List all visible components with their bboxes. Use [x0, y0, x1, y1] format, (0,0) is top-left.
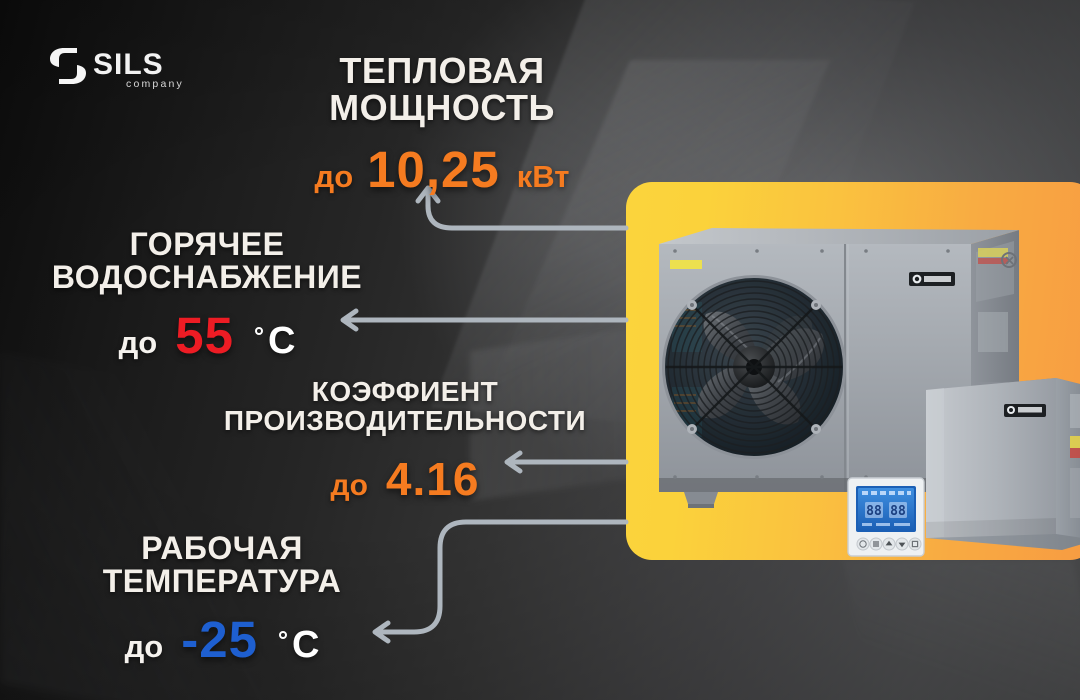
spec-block-operating-temperature: РАБОЧАЯ ТЕМПЕРАТУРА до -25 C [42, 532, 402, 669]
heat-pump-outdoor-unit: 88 88 [626, 182, 1080, 560]
spec-unit-letter: C [268, 320, 295, 362]
spec-title: РАБОЧАЯ ТЕМПЕРАТУРА [42, 532, 402, 598]
spec-value: 10,25 [367, 140, 500, 199]
spec-value-row: до 10,25 кВт [262, 140, 622, 199]
spec-value-row: до -25 C [42, 610, 402, 669]
spec-title-line1: РАБОЧАЯ [42, 532, 402, 565]
degree-symbol-icon [279, 631, 287, 639]
spec-title: ГОРЯЧЕЕ ВОДОСНАБЖЕНИЕ [22, 228, 392, 294]
spec-title-line1: ГОРЯЧЕЕ [22, 228, 392, 261]
indoor-hydro-module [926, 378, 1080, 550]
spec-prefix: до [315, 159, 354, 195]
spec-unit-letter: C [292, 624, 319, 666]
spec-prefix: до [119, 325, 158, 361]
spec-value: 55 [175, 306, 234, 365]
spec-unit: C [268, 320, 295, 363]
spec-value-row: до 4.16 [205, 452, 605, 506]
spec-title-line2: ПРОИЗВОДИТЕЛЬНОСТИ [205, 407, 605, 436]
brand-name: SILS [93, 48, 164, 82]
spec-title-line1: КОЭФФИЕНТ [205, 378, 605, 407]
spec-block-hot-water-supply: ГОРЯЧЕЕ ВОДОСНАБЖЕНИЕ до 55 C [22, 228, 392, 365]
wall-controller: 88 88 [848, 478, 924, 556]
svg-text:88: 88 [890, 504, 906, 519]
brand-logo: SILS company [48, 46, 198, 100]
spec-title-line2: МОЩНОСТЬ [262, 89, 622, 126]
spec-prefix: до [331, 469, 368, 503]
spec-block-coefficient-of-performance: КОЭФФИЕНТ ПРОИЗВОДИТЕЛЬНОСТИ до 4.16 [205, 378, 605, 506]
svg-text:88: 88 [866, 504, 882, 519]
spec-block-thermal-power: ТЕПЛОВАЯ МОЩНОСТЬ до 10,25 кВт [262, 52, 622, 199]
sils-s-mark-icon [48, 46, 88, 86]
product-brand-badge [909, 272, 955, 286]
spec-unit: кВт [517, 159, 570, 195]
degree-symbol-icon [255, 327, 263, 335]
spec-title: КОЭФФИЕНТ ПРОИЗВОДИТЕЛЬНОСТИ [205, 378, 605, 436]
spec-title-line2: ВОДОСНАБЖЕНИЕ [22, 261, 392, 294]
spec-value-row: до 55 C [22, 306, 392, 365]
spec-prefix: до [125, 629, 164, 665]
spec-value: -25 [181, 610, 258, 669]
product-card: 88 88 [626, 182, 1080, 560]
brand-tagline: company [126, 78, 184, 90]
spec-unit: C [292, 624, 319, 667]
spec-title-line1: ТЕПЛОВАЯ [262, 52, 622, 89]
infographic-stage: SILS company [0, 0, 1080, 700]
spec-title-line2: ТЕМПЕРАТУРА [42, 565, 402, 598]
spec-value: 4.16 [386, 452, 480, 506]
spec-title: ТЕПЛОВАЯ МОЩНОСТЬ [262, 52, 622, 126]
